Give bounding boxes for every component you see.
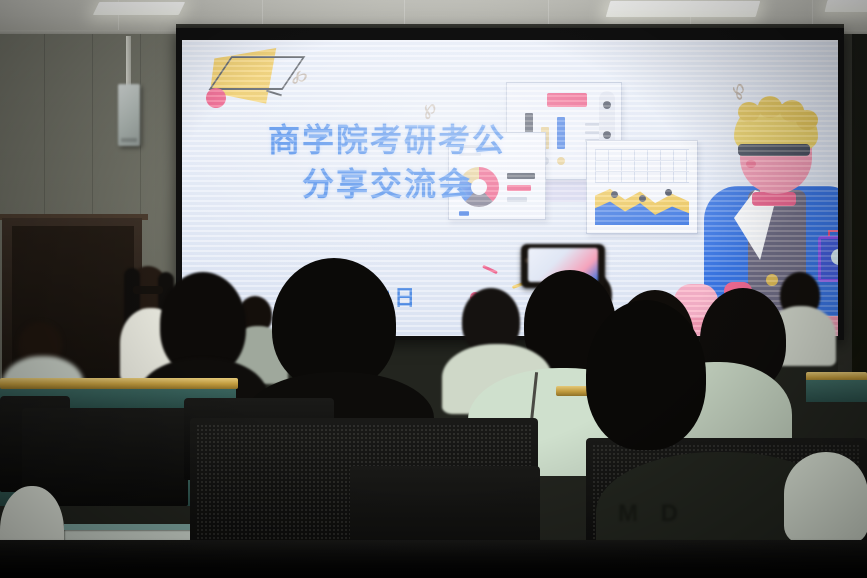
desk-edge — [0, 378, 238, 389]
desk-surface — [806, 380, 867, 402]
photo-bottom-fade — [0, 538, 867, 578]
presenter-glasses-icon — [133, 286, 163, 294]
audience-shoulder — [784, 452, 867, 544]
tick-mark-icon — [266, 90, 282, 97]
slide-title-line2: 分享交流会 — [222, 162, 552, 206]
illustration-cheek — [746, 160, 756, 168]
slide-title: 商学院考研考公 分享交流会 — [222, 118, 552, 206]
squiggle-icon: ℘ — [724, 74, 751, 102]
lecture-hall-photo: ℘ ℘ ℘ ℘ — [0, 0, 867, 578]
speaker-mount — [126, 36, 131, 88]
audience-head — [272, 258, 396, 390]
area-chart-card — [586, 140, 698, 234]
pink-dot-icon — [206, 88, 226, 108]
ceiling-light-icon — [93, 2, 185, 15]
hoodie-text: M D — [618, 500, 748, 526]
slide-title-line1: 商学院考研考公 — [222, 118, 552, 162]
right-wall-shadow — [852, 34, 867, 394]
ceiling-light-icon — [825, 0, 867, 12]
illustration-glasses-icon — [738, 144, 810, 156]
illustration-button — [766, 274, 778, 286]
wall-speaker-icon — [118, 84, 140, 146]
illustration-collar — [752, 192, 796, 206]
ceiling-light-icon — [606, 1, 761, 17]
foreground-head — [586, 300, 706, 450]
